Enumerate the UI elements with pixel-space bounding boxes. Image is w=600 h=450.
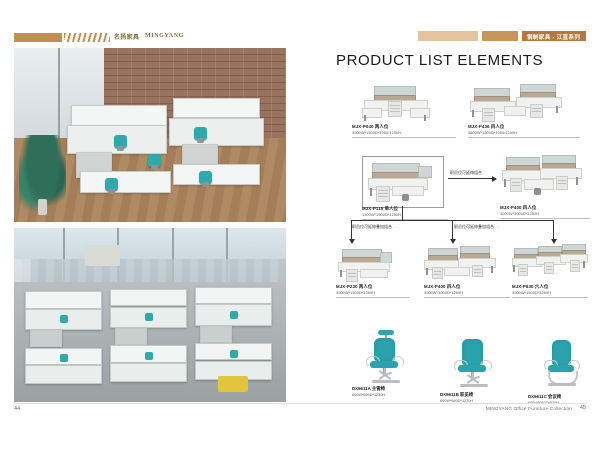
chair-code: DX6611B 职员椅	[440, 392, 524, 398]
product-dimensions: 3600W*1300D*1050/1250H	[468, 131, 580, 135]
chair-item-2: DX6611B 职员椅 600W*660D*1220H	[440, 336, 524, 403]
chair-image-staff	[440, 336, 524, 392]
branch-label-2: 职员位可延伸叠加组合 …	[454, 224, 499, 230]
chair-dimensions: 600W*660D*1230H	[352, 393, 436, 397]
divider	[352, 137, 456, 138]
divider	[468, 137, 580, 138]
footer-divider	[14, 403, 586, 404]
product-dimensions: 3000W*3000D*1250H	[424, 291, 510, 295]
lounge-sofa	[85, 245, 120, 266]
chair-item-3: DX6611C 会议椅 600W*660D*920H	[528, 338, 600, 405]
logo-block-icon	[14, 33, 62, 42]
divider	[424, 297, 510, 298]
page-number-left: 44	[14, 406, 20, 412]
series-tab-2	[482, 31, 518, 41]
branch-down-2	[452, 220, 453, 240]
workstation-cluster	[63, 93, 275, 215]
plant-icon	[19, 135, 65, 215]
product-code: MJX-P400 四人位	[424, 284, 510, 290]
branch-down-3	[553, 220, 554, 240]
flow-arrow-horizontal	[448, 178, 496, 179]
flow-arrow-label: 职员位可延伸组合	[450, 170, 482, 176]
chair-image-executive	[352, 330, 436, 386]
divider	[500, 218, 590, 219]
catalog-spread: 名扬家具 MINGYANG	[0, 0, 600, 450]
product-dimensions: 1500W*1500D*1250H	[362, 213, 448, 217]
left-page: 名扬家具 MINGYANG	[0, 0, 300, 450]
divider	[336, 297, 410, 298]
product-code: MJX-P040 两人位	[352, 124, 456, 130]
chair-code: DX6611A 主管椅	[352, 386, 436, 392]
page-title: PRODUCT LIST ELEMENTS	[336, 52, 543, 69]
product-image	[424, 246, 510, 282]
chair-item-1: DX6611A 主管椅 600W*660D*1230H	[352, 330, 436, 397]
photo-background	[14, 48, 286, 222]
branch-stem	[402, 206, 403, 220]
product-image	[468, 82, 580, 124]
product-image	[362, 160, 448, 204]
product-code: MJX-P400 四人位	[500, 205, 590, 211]
cityscape	[14, 259, 286, 282]
series-tab-1	[418, 31, 478, 41]
product-item-bottom-1: MJX-P230 两人位 3000W*1500D*1250H	[336, 248, 410, 298]
brand-logo: 名扬家具 MINGYANG	[14, 33, 186, 42]
divider	[512, 297, 588, 298]
product-item-target: MJX-P400 四人位 3000W*3000D*1250H	[500, 155, 590, 219]
product-code: MJX-P436 四人位	[468, 124, 580, 130]
branch-label-1: 职员位可延伸叠加组合 …	[352, 224, 397, 230]
product-item-top-1: MJX-P040 两人位 3000W*1500D*1050/1250H	[352, 84, 456, 138]
photo-background-2	[14, 228, 286, 402]
chair-code: DX6611C 会议椅	[528, 394, 600, 400]
product-dimensions: 3000W*1500D*1250H	[336, 291, 410, 295]
page-number-right: 45	[580, 405, 586, 411]
product-dimensions: 3000W*4500D*1250H	[512, 291, 588, 295]
product-code: MJX-P630 六人位	[512, 284, 588, 290]
window-wall-icon	[14, 228, 286, 282]
ottoman	[218, 376, 248, 392]
product-image	[500, 155, 590, 203]
product-item-top-2: MJX-P436 四人位 3600W*1300D*1050/1250H	[468, 82, 580, 138]
series-tab-3: 钢制家具 - 江直系列	[522, 31, 586, 41]
series-tab-label: 钢制家具 - 江直系列	[527, 33, 580, 41]
product-image	[352, 84, 456, 124]
chair-image-meeting	[528, 338, 600, 394]
product-item-bottom-2: MJX-P400 四人位 3000W*3000D*1250H	[424, 246, 510, 298]
product-dimensions: 3000W*1500D*1050/1250H	[352, 131, 456, 135]
footer-text: MINGYANG Office Furniture Collection	[486, 406, 572, 411]
hero-photo-open-plan-office	[14, 228, 286, 402]
logo-stripes-icon	[64, 33, 110, 42]
hero-photo-loft-office	[14, 48, 286, 222]
branch-down-1	[351, 220, 352, 240]
product-code: MJX-P115 单人位	[362, 206, 448, 212]
brand-name-cn: 名扬家具	[114, 32, 139, 41]
product-dimensions: 3000W*3000D*1250H	[500, 212, 590, 216]
product-image	[512, 244, 588, 282]
product-item-source: MJX-P115 单人位 1500W*1500D*1250H	[362, 160, 448, 220]
product-item-bottom-3: MJX-P630 六人位 3000W*4500D*1250H	[512, 244, 588, 298]
product-code: MJX-P230 两人位	[336, 284, 410, 290]
brand-name-en: MINGYANG	[145, 33, 184, 39]
product-image	[336, 248, 410, 282]
